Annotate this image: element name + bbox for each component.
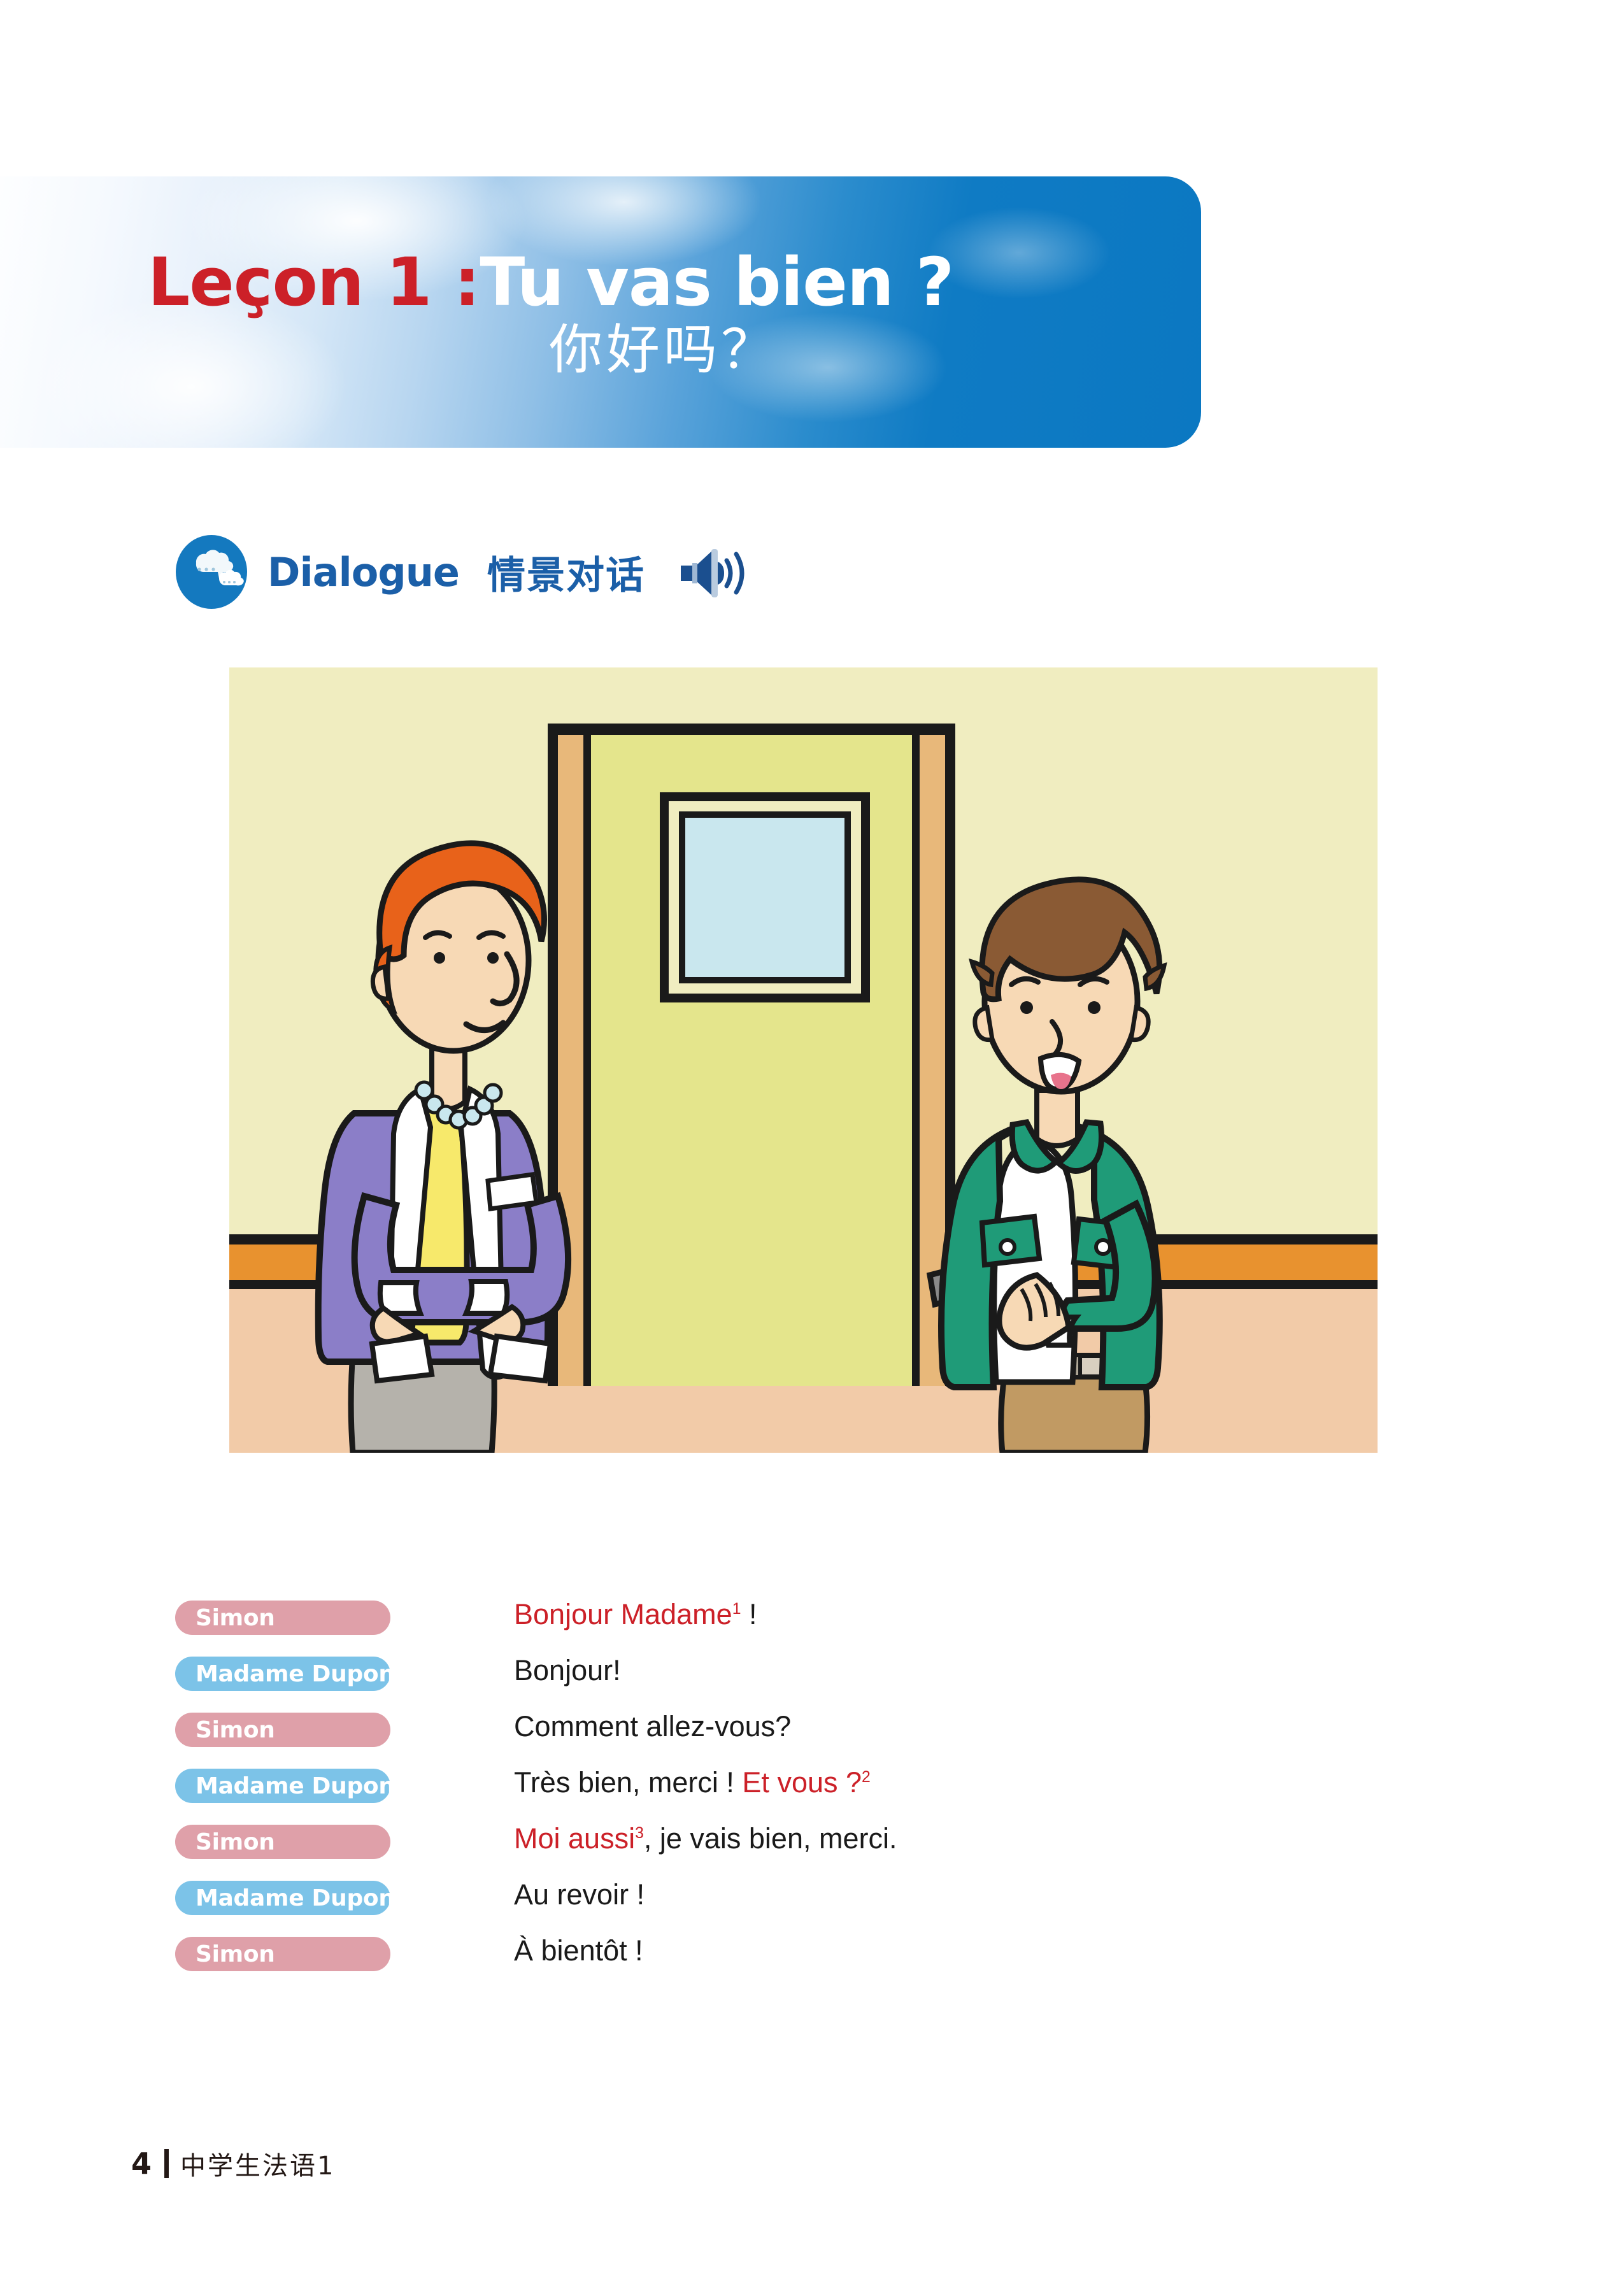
speaker-badge-dupont: Madame Dupont — [175, 1881, 390, 1915]
lesson-title-chinese: 你好吗？ — [549, 322, 1201, 378]
section-label-chinese: 情景对话 — [487, 545, 645, 600]
speaker-name: Simon — [196, 1717, 275, 1743]
speaker-name: Simon — [196, 1829, 275, 1855]
lesson-title-line: Leçon 1 :Tu vas bien ? — [148, 249, 1201, 315]
section-label-english: Dialogue — [267, 549, 459, 595]
dialogue-text: Très bien, merci ! Et vous ?2 — [514, 1766, 871, 1799]
dialogue-text: Bonjour Madame1 ! — [514, 1598, 757, 1631]
page-footer: 4 中学生法语1 — [131, 2145, 335, 2182]
classroom-scene-image — [229, 667, 1378, 1453]
lesson-title-banner: Leçon 1 :Tu vas bien ? 你好吗？ — [0, 176, 1201, 448]
lesson-title-french: Tu vas bien ? — [480, 243, 953, 321]
speaker-name: Madame Dupont — [196, 1661, 406, 1687]
dialogue-illustration — [229, 667, 1378, 1453]
book-title: 中学生法语1 — [180, 2145, 335, 2182]
speaker-icon[interactable] — [676, 544, 747, 603]
dialogue-row: Madame Dupont Très bien, merci ! Et vous… — [175, 1769, 1385, 1825]
dialogue-row: Simon À bientôt ! — [175, 1937, 1385, 1993]
dialogue-row: Madame Dupont Bonjour! — [175, 1657, 1385, 1713]
speaker-badge-simon: Simon — [175, 1601, 390, 1635]
dialogue-row: Madame Dupont Au revoir ! — [175, 1881, 1385, 1937]
page-number: 4 — [131, 2146, 152, 2181]
speaker-name: Simon — [196, 1941, 275, 1967]
dialogue-text: Comment allez-vous? — [514, 1710, 791, 1743]
speaker-badge-simon: Simon — [175, 1937, 390, 1971]
footer-divider — [164, 2149, 169, 2178]
dialogue-text: Moi aussi3, je vais bien, merci. — [514, 1822, 897, 1855]
speaker-badge-simon: Simon — [175, 1825, 390, 1859]
dialogue-row: Simon Comment allez-vous? — [175, 1713, 1385, 1769]
textbook-page: Leçon 1 :Tu vas bien ? 你好吗？ Dialogue 情景对… — [0, 0, 1624, 2282]
dialogue-row: Simon Bonjour Madame1 ! — [175, 1601, 1385, 1657]
speaker-name: Simon — [196, 1605, 275, 1631]
speaker-name: Madame Dupont — [196, 1885, 406, 1911]
dialogue-section-header: Dialogue 情景对话 — [173, 534, 747, 610]
dialogue-row: Simon Moi aussi3, je vais bien, merci. — [175, 1825, 1385, 1881]
speaker-badge-dupont: Madame Dupont — [175, 1769, 390, 1803]
dialogue-text: Bonjour! — [514, 1654, 621, 1687]
speaker-badge-simon: Simon — [175, 1713, 390, 1747]
speaker-badge-dupont: Madame Dupont — [175, 1657, 390, 1691]
speaker-name: Madame Dupont — [196, 1773, 406, 1799]
dialogue-lines: Simon Bonjour Madame1 ! Madame Dupont Bo… — [175, 1601, 1385, 1993]
banner-text-block: Leçon 1 :Tu vas bien ? 你好吗？ — [0, 176, 1201, 448]
dialogue-text: Au revoir ! — [514, 1878, 645, 1911]
lesson-number-label: Leçon 1 : — [148, 243, 480, 321]
speech-bubbles-icon — [173, 534, 250, 610]
dialogue-text: À bientôt ! — [514, 1934, 643, 1967]
